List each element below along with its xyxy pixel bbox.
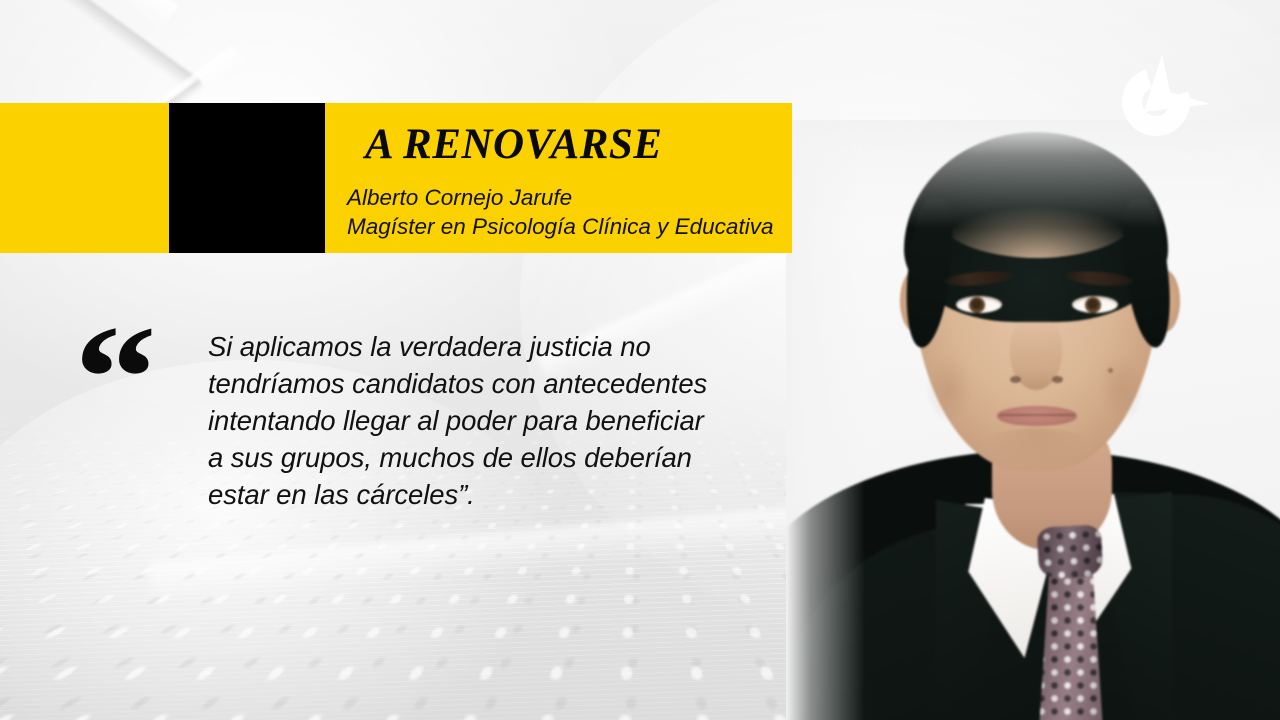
iris-right — [1085, 297, 1101, 313]
quote-line: Si aplicamos la verdadera justicia no — [208, 328, 788, 365]
headline-banner: A RENOVARSE Alberto Cornejo Jarufe Magís… — [0, 103, 792, 253]
quote-line: intentando llegar al poder para benefici… — [208, 402, 788, 439]
background-streak-1 — [0, 0, 178, 29]
facial-mole — [1108, 368, 1113, 373]
circular-arrow-logo-icon — [1104, 52, 1216, 152]
speaker-title: Magíster en Psicología Clínica y Educati… — [347, 212, 773, 241]
eye-left — [956, 296, 1002, 313]
quote-text: Si aplicamos la verdadera justicia no te… — [208, 328, 788, 513]
background-streak-2 — [0, 0, 200, 93]
nostril-left — [1010, 376, 1021, 383]
necktie-knot — [1037, 524, 1104, 579]
forehead-highlight — [938, 174, 1136, 258]
banner-text-group: A RENOVARSE Alberto Cornejo Jarufe Magís… — [325, 103, 792, 253]
open-quote-icon: “ — [74, 303, 151, 413]
quote-line: a sus grupos, muchos de ellos deberían — [208, 439, 788, 476]
photo-subject — [786, 120, 1280, 720]
chin-shadow — [982, 428, 1092, 466]
graphic-canvas: A RENOVARSE Alberto Cornejo Jarufe Magís… — [0, 0, 1280, 720]
lip-line — [999, 414, 1075, 416]
eye-right — [1072, 296, 1118, 313]
mouth — [997, 406, 1077, 426]
iris-left — [969, 297, 985, 313]
quote-line: estar en las cárceles”. — [208, 476, 788, 513]
cheek-shadow-left — [926, 354, 972, 422]
nostril-right — [1052, 376, 1063, 383]
banner-black-block — [169, 103, 325, 253]
speaker-name: Alberto Cornejo Jarufe — [347, 183, 572, 212]
necktie-knot-shading — [1037, 524, 1104, 579]
cheek-shadow-right — [1098, 354, 1144, 422]
quote-line: tendríamos candidatos con antecedentes — [208, 365, 788, 402]
page-title: A RENOVARSE — [365, 123, 662, 166]
portrait-photo — [786, 120, 1280, 720]
